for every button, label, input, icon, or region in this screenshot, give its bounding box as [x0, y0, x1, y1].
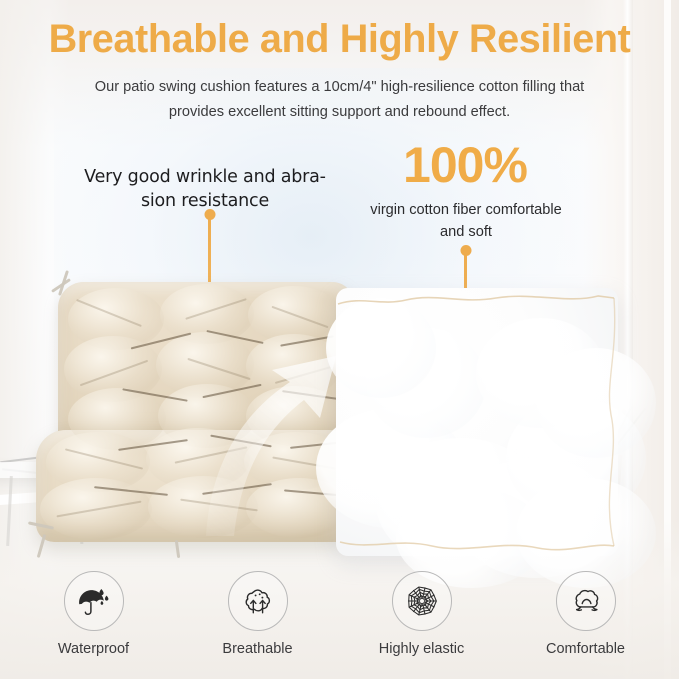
- feature-waterproof: Waterproof: [40, 571, 148, 657]
- feature-icon-frame: [392, 571, 452, 631]
- feature-icon-frame: [64, 571, 124, 631]
- feature-label: Comfortable: [546, 641, 625, 657]
- cotton-breathe-icon: [241, 584, 275, 618]
- cloud-pillow-icon: [569, 584, 603, 618]
- page-subtitle: Our patio swing cushion features a 10cm/…: [60, 75, 620, 125]
- feature-comfortable: Comfortable: [532, 571, 640, 657]
- annotation-right: virgin cotton fiber comfortable and soft: [330, 200, 602, 244]
- feature-highly-elastic: Highly elastic: [368, 571, 476, 657]
- cushion-seat: [36, 430, 352, 542]
- feature-label: Waterproof: [58, 641, 129, 657]
- feature-breathable: Breathable: [204, 571, 312, 657]
- subtitle-line-1: Our patio swing cushion features a 10cm/…: [60, 75, 620, 100]
- annotation-right-line-2: and soft: [330, 222, 602, 244]
- product-cotton-filling: [336, 288, 618, 556]
- feature-label: Breathable: [222, 641, 292, 657]
- feature-list: Waterproof Breathable: [0, 571, 679, 657]
- umbrella-rain-icon: [77, 584, 111, 618]
- cushion-backrest: [58, 282, 354, 442]
- spring-coil-icon: [404, 583, 440, 619]
- feature-icon-frame: [556, 571, 616, 631]
- annotation-left: Very good wrinkle and abra- sion resista…: [74, 166, 336, 213]
- stat-100-percent: 100%: [340, 140, 590, 190]
- page-title: Breathable and Highly Resilient: [3, 18, 675, 61]
- feature-icon-frame: [228, 571, 288, 631]
- subtitle-line-2: provides excellent sitting support and r…: [60, 100, 620, 125]
- product-infographic: Breathable and Highly Resilient Our pati…: [0, 0, 679, 679]
- pointer-dot-right: [460, 245, 471, 256]
- feature-label: Highly elastic: [379, 641, 464, 657]
- annotation-right-line-1: virgin cotton fiber comfortable: [330, 200, 602, 222]
- pointer-dot-left: [204, 209, 215, 220]
- cotton-outline: [336, 288, 618, 556]
- product-cushion-beige: [34, 282, 352, 552]
- annotation-left-line-1: Very good wrinkle and abra-: [74, 166, 336, 190]
